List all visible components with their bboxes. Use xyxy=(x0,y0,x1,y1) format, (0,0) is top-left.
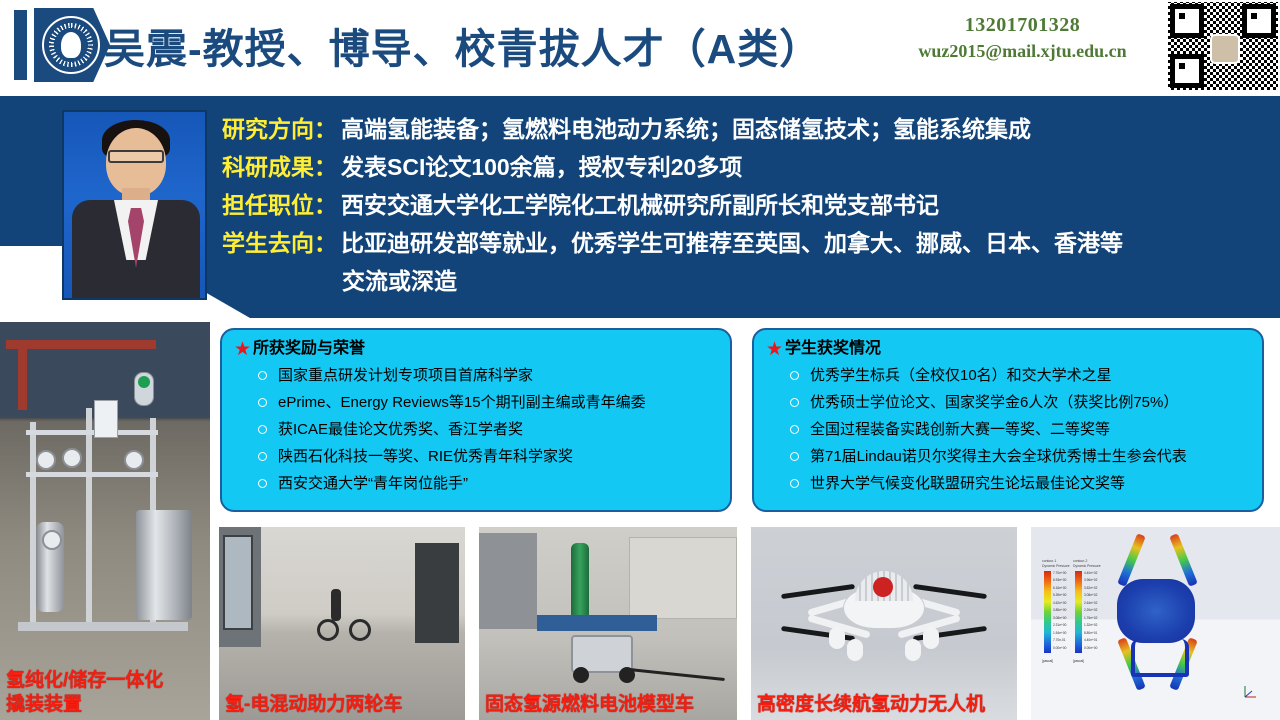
info-label: 科研成果： xyxy=(222,150,337,184)
awards-box-title: 所获奖励与荣誉 xyxy=(253,338,365,360)
gas-cylinder-icon xyxy=(571,543,589,619)
gallery-caption: 氢纯化/储存一体化 撬装装置 xyxy=(0,668,210,720)
qr-eye-top-left xyxy=(1170,4,1204,38)
circle-bullet-icon xyxy=(790,371,799,380)
circle-bullet-icon xyxy=(258,371,267,380)
info-row-student-destination: 学生去向： 比亚迪研发部等就业，优秀学生可推荐至英国、加拿大、挪威、日本、香港等 xyxy=(222,226,1182,260)
circle-bullet-icon xyxy=(790,425,799,434)
list-item-label: 全国过程装备实践创新大赛一等奖、二等奖等 xyxy=(810,416,1110,443)
gallery-caption: 固态氢源燃料电池模型车 xyxy=(479,691,737,720)
photo-rider xyxy=(331,589,341,621)
pressure-gauge-icon xyxy=(36,450,56,470)
photo-bench-left xyxy=(479,533,537,629)
rig-pipe-lower xyxy=(26,472,158,477)
list-item: 西安交通大学“青年岗位能手” xyxy=(234,470,720,497)
qr-code-icon[interactable] xyxy=(1168,2,1278,90)
awards-box: ★ 所获奖励与荣誉 国家重点研发计划专项项目首席科学家 ePrime、Energ… xyxy=(220,328,732,512)
circle-bullet-icon xyxy=(790,452,799,461)
list-item: 陕西石化科技一等奖、RIE优秀青年科学家奖 xyxy=(234,443,720,470)
pressure-gauge-icon xyxy=(124,450,144,470)
rig-frame-mid xyxy=(86,408,92,630)
drone-landing-foot xyxy=(905,639,921,661)
cfd-axis-triad-icon xyxy=(1241,683,1259,701)
info-row-achievements: 科研成果： 发表SCI论文100余篇，授权专利20多项 xyxy=(222,150,1182,184)
circle-bullet-icon xyxy=(258,479,267,488)
cfd-legend1-name: contour-1 xyxy=(1042,559,1056,563)
photo-blue-table xyxy=(537,615,657,631)
qr-eye-bottom-left xyxy=(1170,54,1204,88)
awards-list: 国家重点研发计划专项项目首席科学家 ePrime、Energy Reviews等… xyxy=(234,362,720,497)
photo-red-post xyxy=(18,340,27,410)
info-row-research: 研究方向： 高端氢能装备；氢燃料电池动力系统；固态储氢技术；氢能系统集成 xyxy=(222,112,1182,146)
circle-bullet-icon xyxy=(258,425,267,434)
list-item-label: ePrime、Energy Reviews等15个期刊副主编或青年编委 xyxy=(278,389,646,416)
rig-base xyxy=(18,622,188,631)
photo-bench-right xyxy=(629,537,737,619)
info-label: 研究方向： xyxy=(222,112,337,146)
student-box-title: 学生获奖情况 xyxy=(785,338,881,360)
rig-vessel-main xyxy=(136,510,192,620)
contact-block: 13201701328 wuz2015@mail.xjtu.edu.cn xyxy=(880,12,1165,64)
circle-bullet-icon xyxy=(258,452,267,461)
contact-email[interactable]: wuz2015@mail.xjtu.edu.cn xyxy=(880,38,1165,64)
pressure-gauge-icon xyxy=(42,530,62,550)
list-item: 第71届Lindau诺贝尔奖得主大会全球优秀博士生参会代表 xyxy=(766,443,1252,470)
photo-door xyxy=(415,543,459,643)
list-item-label: 西安交通大学“青年岗位能手” xyxy=(278,470,468,497)
info-value: 比亚迪研发部等就业，优秀学生可推荐至英国、加拿大、挪威、日本、香港等 xyxy=(337,226,1123,260)
list-item: 世界大学气候变化联盟研究生论坛最佳论文奖等 xyxy=(766,470,1252,497)
cfd-legend2-ticks: 4.40e+023.96e+023.52e+023.08e+022.64e+02… xyxy=(1084,570,1097,652)
gallery-item-two-wheeler[interactable]: 氢-电混动助力两轮车 xyxy=(219,527,465,720)
info-label: 担任职位： xyxy=(222,188,337,222)
drone-landing-foot xyxy=(923,627,939,649)
list-item: 获ICAE最佳论文优秀奖、香江学者奖 xyxy=(234,416,720,443)
list-item: 国家重点研发计划专项项目首席科学家 xyxy=(234,362,720,389)
list-item: 优秀硕士学位论文、国家奖学金6人次（获奖比例75%） xyxy=(766,389,1252,416)
slide-root: 吴震-教授、博导、校青拔人才（A类） 13201701328 wuz2015@m… xyxy=(0,0,1280,720)
cfd-drone-legs xyxy=(1131,639,1189,677)
info-label: 学生去向： xyxy=(222,226,337,260)
caption-line-1: 氢纯化/储存一体化 xyxy=(6,669,210,693)
gallery-item-drone[interactable]: 高密度长续航氢动力无人机 xyxy=(751,527,1017,720)
star-icon: ★ xyxy=(766,340,783,359)
cfd-legend2-quantity: Dynamic Pressure xyxy=(1073,564,1101,568)
drone-landing-foot xyxy=(829,627,845,649)
contact-phone[interactable]: 13201701328 xyxy=(880,12,1165,38)
student-box-title-row: ★ 学生获奖情况 xyxy=(766,338,1252,360)
drone-landing-foot xyxy=(847,639,863,661)
xjtu-seal-icon xyxy=(42,16,100,74)
page-title: 吴震-教授、博导、校青拔人才（A类） xyxy=(104,10,821,80)
info-value: 发表SCI论文100余篇，授权专利20多项 xyxy=(337,150,742,184)
cfd-legend1-quantity: Dynamic Pressure xyxy=(1042,564,1070,568)
gallery-item-cfd-simulation[interactable]: contour-1 Dynamic Pressure 7.70e+006.93e… xyxy=(1031,527,1280,720)
circle-bullet-icon xyxy=(790,479,799,488)
glasses-icon xyxy=(108,150,164,163)
list-item: ePrime、Energy Reviews等15个期刊副主编或青年编委 xyxy=(234,389,720,416)
circle-bullet-icon xyxy=(790,398,799,407)
circle-bullet-icon xyxy=(258,398,267,407)
digital-display-icon xyxy=(94,400,118,438)
cfd-legend2-name: contour-2 xyxy=(1073,559,1087,563)
cfd-colorbar-2 xyxy=(1075,571,1082,653)
caption-line-2: 撬装装置 xyxy=(6,693,210,717)
info-value: 西安交通大学化工学院化工机械研究所副所长和党支部书记 xyxy=(337,188,939,222)
bicycle-wheel-icon xyxy=(317,619,339,641)
list-item-label: 国家重点研发计划专项项目首席科学家 xyxy=(278,362,533,389)
car-wheel-icon xyxy=(573,667,589,683)
star-icon: ★ xyxy=(234,340,251,359)
cfd-legend2-unit: [pascal] xyxy=(1073,659,1084,663)
cfd-legend1-title: contour-1 Dynamic Pressure xyxy=(1042,559,1070,568)
list-item: 优秀学生标兵（全校仅10名）和交大学术之星 xyxy=(766,362,1252,389)
awards-box-title-row: ★ 所获奖励与荣誉 xyxy=(234,338,720,360)
list-item-label: 获ICAE最佳论文优秀奖、香江学者奖 xyxy=(278,416,523,443)
cfd-colorbar-1 xyxy=(1044,571,1051,653)
portrait-photo xyxy=(62,110,207,300)
university-logo-badge xyxy=(34,8,110,82)
gallery-item-model-car[interactable]: 固态氢源燃料电池模型车 xyxy=(479,527,737,720)
header: 吴震-教授、博导、校青拔人才（A类） 13201701328 wuz2015@m… xyxy=(0,0,1280,90)
cfd-legend1-unit: [pascal] xyxy=(1042,659,1053,663)
drone-logo-icon xyxy=(873,577,893,597)
info-row-positions: 担任职位： 西安交通大学化工学院化工机械研究所副所长和党支部书记 xyxy=(222,188,1182,222)
info-value: 高端氢能装备；氢燃料电池动力系统；固态储氢技术；氢能系统集成 xyxy=(337,112,1031,146)
cfd-legend2-title: contour-2 Dynamic Pressure xyxy=(1073,559,1101,568)
bicycle-wheel-icon xyxy=(349,619,371,641)
gallery-caption: 高密度长续航氢动力无人机 xyxy=(751,691,1017,720)
cfd-drone-body xyxy=(1117,579,1195,643)
student-awards-list: 优秀学生标兵（全校仅10名）和交大学术之星 优秀硕士学位论文、国家奖学金6人次（… xyxy=(766,362,1252,497)
sensor-icon xyxy=(134,372,154,406)
student-awards-box: ★ 学生获奖情况 优秀学生标兵（全校仅10名）和交大学术之星 优秀硕士学位论文、… xyxy=(752,328,1264,512)
info-value-continuation: 交流或深造 xyxy=(222,264,1182,298)
gallery-item-hydrogen-skid[interactable]: 氢纯化/储存一体化 撬装装置 xyxy=(0,322,210,720)
qr-eye-top-right xyxy=(1242,4,1276,38)
rig-pipe-upper xyxy=(26,430,158,435)
list-item-label: 优秀硕士学位论文、国家奖学金6人次（获奖比例75%） xyxy=(810,389,1178,416)
list-item: 全国过程装备实践创新大赛一等奖、二等奖等 xyxy=(766,416,1252,443)
photo-red-beam xyxy=(6,340,156,349)
header-accent-bar xyxy=(14,10,27,80)
photo-window xyxy=(223,535,253,630)
list-item-label: 第71届Lindau诺贝尔奖得主大会全球优秀博士生参会代表 xyxy=(810,443,1187,470)
cfd-legend1-ticks: 7.70e+006.93e+006.16e+005.39e+004.62e+00… xyxy=(1053,570,1066,652)
list-item-label: 优秀学生标兵（全校仅10名）和交大学术之星 xyxy=(810,362,1112,389)
gallery-caption: 氢-电混动助力两轮车 xyxy=(219,691,465,720)
profile-info-list: 研究方向： 高端氢能装备；氢燃料电池动力系统；固态储氢技术；氢能系统集成 科研成… xyxy=(222,112,1182,298)
seal-gear-ring xyxy=(45,19,97,71)
list-item-label: 陕西石化科技一等奖、RIE优秀青年科学家奖 xyxy=(278,443,573,470)
pressure-gauge-icon xyxy=(62,448,82,468)
qr-center-avatar xyxy=(1210,34,1240,64)
list-item-label: 世界大学气候变化联盟研究生论坛最佳论文奖等 xyxy=(810,470,1125,497)
